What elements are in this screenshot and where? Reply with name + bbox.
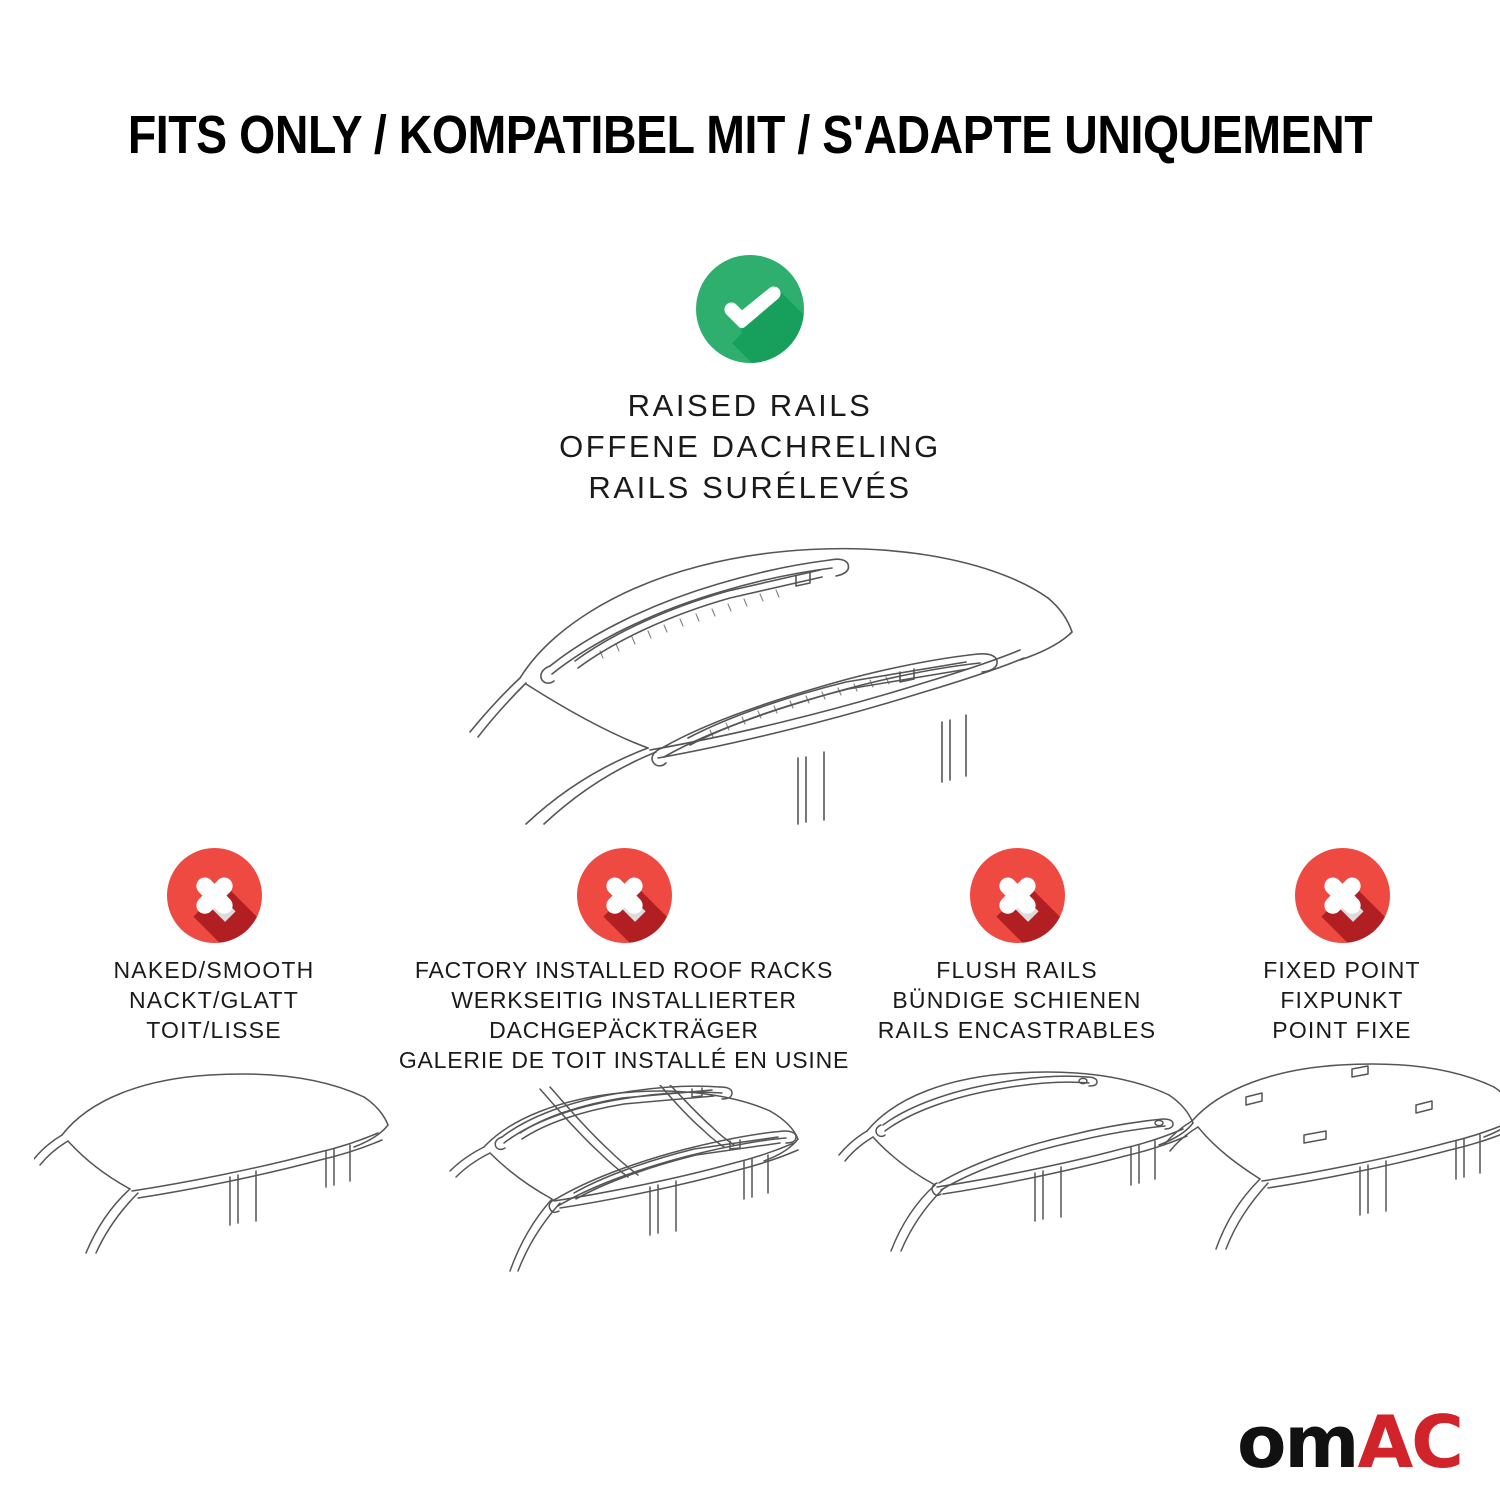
compatible-label-de: OFFENE DACHRELING — [559, 426, 941, 467]
x-circle-icon — [970, 848, 1065, 943]
incompatible-label-fr: TOIT/LISSE — [114, 1015, 315, 1045]
incompatible-item-factory-racks: FACTORY INSTALLED ROOF RACKS WERKSEITIG … — [404, 848, 844, 1305]
compatible-label-en: RAISED RAILS — [559, 385, 941, 426]
incompatible-label-fr: RAILS ENCASTRABLES — [878, 1015, 1157, 1045]
compatible-label-fr: RAILS SURÉLEVÉS — [559, 467, 941, 508]
check-circle-icon — [696, 255, 804, 363]
incompatible-labels: FLUSH RAILS BÜNDIGE SCHIENEN RAILS ENCAS… — [878, 955, 1157, 1045]
incompatible-label-en: NAKED/SMOOTH — [114, 955, 315, 985]
incompatible-label-en: FACTORY INSTALLED ROOF RACKS — [399, 955, 849, 985]
car-roof-flush-rails-illustration — [837, 1055, 1197, 1275]
incompatible-section: NAKED/SMOOTH NACKT/GLATT TOIT/LISSE — [0, 848, 1500, 1305]
car-roof-naked-illustration — [34, 1055, 394, 1275]
incompatible-item-flush-rails: FLUSH RAILS BÜNDIGE SCHIENEN RAILS ENCAS… — [852, 848, 1182, 1305]
car-roof-raised-rails-illustration — [400, 526, 1100, 826]
incompatible-labels: FIXED POINT FIXPUNKT POINT FIXE — [1263, 955, 1421, 1045]
incompatible-item-fixed-point: FIXED POINT FIXPUNKT POINT FIXE — [1192, 848, 1492, 1305]
x-circle-icon — [1295, 848, 1390, 943]
incompatible-label-fr: GALERIE DE TOIT INSTALLÉ EN USINE — [399, 1045, 849, 1075]
x-circle-icon — [167, 848, 262, 943]
compatible-labels: RAISED RAILS OFFENE DACHRELING RAILS SUR… — [559, 385, 941, 508]
car-roof-factory-racks-illustration — [444, 1085, 804, 1305]
incompatible-label-de-1: WERKSEITIG INSTALLIERTER — [399, 985, 849, 1015]
incompatible-item-naked: NAKED/SMOOTH NACKT/GLATT TOIT/LISSE — [14, 848, 414, 1305]
car-roof-fixed-point-illustration — [1162, 1055, 1500, 1275]
incompatible-label-de: BÜNDIGE SCHIENEN — [878, 985, 1157, 1015]
incompatible-labels: FACTORY INSTALLED ROOF RACKS WERKSEITIG … — [399, 955, 849, 1075]
incompatible-label-fr: POINT FIXE — [1263, 1015, 1421, 1045]
page-title: FITS ONLY / KOMPATIBEL MIT / S'ADAPTE UN… — [105, 104, 1395, 166]
incompatible-label-en: FIXED POINT — [1263, 955, 1421, 985]
omac-logo: omAC — [1237, 1406, 1462, 1478]
incompatible-labels: NAKED/SMOOTH NACKT/GLATT TOIT/LISSE — [114, 955, 315, 1045]
incompatible-label-de-2: DACHGEPÄCKTRÄGER — [399, 1015, 849, 1045]
logo-text-ac: AC — [1357, 1400, 1462, 1484]
compatible-section: RAISED RAILS OFFENE DACHRELING RAILS SUR… — [0, 255, 1500, 826]
x-circle-icon — [577, 848, 672, 943]
incompatible-label-en: FLUSH RAILS — [878, 955, 1157, 985]
incompatible-label-de: FIXPUNKT — [1263, 985, 1421, 1015]
incompatible-label-de: NACKT/GLATT — [114, 985, 315, 1015]
logo-text-om: om — [1237, 1400, 1358, 1484]
